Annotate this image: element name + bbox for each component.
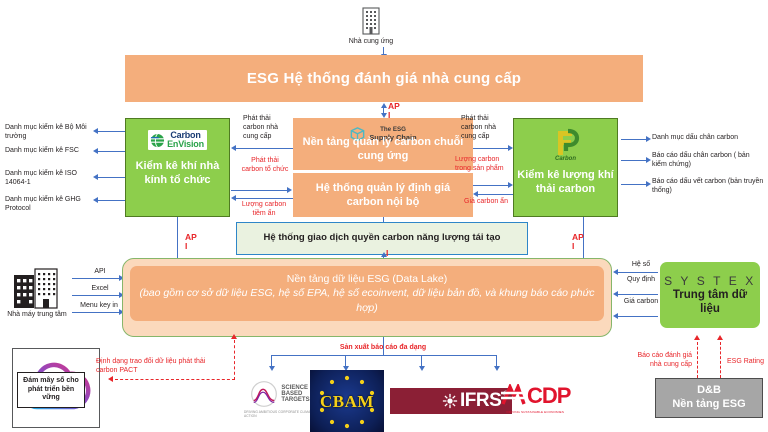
flow-left-upper-label: Phát thải carbon nhà cung cấp [243,115,291,141]
systex-input-1: Quy định [625,276,657,285]
systex-subtitle: Trung tâm dữ liệu [666,289,754,317]
left-arrow-head-1 [93,148,98,154]
supply-chain-carbon-platform-box[interactable]: The ESG Supply Chain Nền tảng quản lý ca… [293,118,473,170]
reports-head-0 [269,366,275,371]
systex-head-2 [613,313,618,319]
org-ghg-inventory-title: Kiểm kê khí nhà kính tổ chức [129,160,227,188]
diagram-canvas: Nhà cung ứng ESG Hệ thống đánh giá nhà c… [0,0,768,432]
cloud-label-box: Đám mây số cho phát triển bền vững [17,372,85,408]
ifrs-block [390,388,438,414]
renewable-carbon-trading-box[interactable]: Hệ thống giao dịch quyền carbon năng lượ… [236,222,528,255]
left-arrow-head-2 [93,174,98,180]
right-arrow-head-0 [646,136,651,142]
sbt-line3: TARGETS [281,397,309,403]
right-arrow-line-2 [621,184,647,185]
flow-left-mid-label: Phát thải carbon tổ chức [240,157,290,175]
factory-line-0 [72,278,122,279]
cdp-text: CDP [527,383,570,409]
data-lake-line2: (bao gồm cơ sở dữ liệu ESG, hệ số EPA, h… [137,286,597,314]
systex-dashed-right-label: ESG Rating [727,358,768,367]
dnb-dashed-head-left [694,335,700,340]
reports-head-2 [419,366,425,371]
pact-dashed-label: Định dạng trao đổi dữ liệu phát thải car… [96,358,221,376]
right-output-2: Báo cáo dấu vết carbon (bản truyền thống… [652,178,764,196]
reports-stem [383,337,384,355]
left-output-1: Danh mục kiểm kê FSC [5,147,97,156]
esg-data-lake-box[interactable]: Nền tảng dữ liệu ESG (Data Lake) (bao gồ… [130,266,604,321]
flow-right-lower-head [473,191,478,197]
dnb-line2: Nền tảng ESG [672,398,745,412]
carbon-envision-logo: Carbon EnVision [148,130,207,150]
science-based-targets-logo: SCIENCE BASED TARGETS DRIVING AMBITIOUS … [244,380,316,418]
esg-supplier-evaluation-banner[interactable]: ESG Hệ thống đánh giá nhà cung cấp [125,55,643,102]
flow-left-lower-line [236,198,293,199]
pact-dashed-line-h [115,379,235,380]
left-output-3: Danh mục kiểm kê GHG Protocol [5,196,97,214]
left-output-0: Danh mục kiểm kê Bộ Môi trường [5,124,97,142]
internal-carbon-pricing-box[interactable]: Hệ thống quản lý định giá carbon nội bộ [293,173,473,217]
right-arrow-line-1 [621,160,647,161]
right-arrow-head-1 [646,157,651,163]
eu-stars-icon [310,370,384,432]
flow-left-mid-head [287,187,292,193]
pact-dashed-head-up [231,334,237,339]
sbt-line1: SCIENCE [281,385,309,391]
factory-line-1 [72,295,122,296]
flow-right-lower-line [478,194,513,195]
factory-input-1: Excel [75,285,125,294]
ifrs-mark-icon [442,393,458,409]
left-arrow-line-3 [98,200,125,201]
systex-line-1 [618,294,658,295]
flow-right-lower-label: Giá carbon ẩn [464,198,514,207]
flow-right-upper-label: Phát thải carbon nhà cung cấp [461,115,509,141]
cdp-logo: CDP DRIVING SUSTAINABLE ECONOMIES [500,383,570,414]
api-label-left-2: I [185,241,187,252]
supplier-label: Nhà cung ứng [331,38,411,47]
systex-head-0 [613,269,618,275]
flow-right-upper-line [473,148,511,149]
flow-left-upper-head [231,145,236,151]
pact-dashed-head [108,376,113,382]
systex-line-2 [618,316,658,317]
org-box-to-lake-line [177,217,178,264]
carbon-footprint-title: Kiểm kê lượng khí thải carbon [517,169,615,197]
left-output-2: Danh mục kiểm kê ISO 14064-1 [5,170,97,188]
supply-chain-title: Nền tảng quản lý carbon chuỗi cung ứng [297,135,469,164]
flow-right-mid-head [508,182,513,188]
dnb-esg-platform-box[interactable]: D&B Nền tảng ESG [655,378,763,418]
internal-pricing-title: Hệ thống quản lý định giá carbon nội bộ [297,181,469,210]
factory-input-0: API [75,268,125,277]
flow-right-mid-line [473,185,511,186]
systex-line-0 [618,272,658,273]
ce-logo-secondary: EnVision [167,140,204,149]
systex-head-1 [613,291,618,297]
dnb-dashed-head-right [717,335,723,340]
cbam-logo: CBAM [310,370,384,432]
ifrs-logo: IFRS ® [390,388,512,414]
right-output-1: Báo cáo dấu chân carbon ( bản kiểm chứng… [652,152,764,170]
fp-carbon-logo: Carbon [548,128,584,162]
org-ghg-inventory-box[interactable]: Carbon EnVision Kiểm kê khí nhà kính tổ … [125,118,230,217]
globe-icon [150,133,165,148]
fp-logo-sub: Carbon [555,156,576,162]
right-arrow-line-0 [621,139,647,140]
sbt-mark-icon [250,380,278,408]
fp-monogram-icon [548,128,584,158]
flow-right-mid-label: Lượng carbon trong sản phẩm [455,156,509,174]
right-arrow-head-2 [646,181,651,187]
left-arrow-line-1 [98,151,125,152]
flow-left-mid-line [231,190,288,191]
cloud-label: Đám mây số cho phát triển bền vững [20,377,82,403]
sbt-fine: DRIVING AMBITIOUS CORPORATE CLIMATE ACTI… [244,410,316,418]
left-arrow-line-2 [98,177,125,178]
factory-buildings-icon [12,267,60,314]
systex-dashed-left-label: Báo cáo đánh giá nhà cung cấp [630,352,692,370]
systex-brand: S Y S T E X [664,274,756,288]
right-output-0: Danh mục dấu chân carbon [652,134,764,143]
factory-line-2 [72,312,122,313]
data-lake-line1: Nền tảng dữ liệu ESG (Data Lake) [137,272,597,286]
dnb-dashed-line-left [697,342,698,378]
systex-input-0: Hệ số [625,261,657,270]
flow-left-lower-label: Lượng carbon tiềm ẩn [236,201,292,219]
ifrs-text: IFRS [460,390,501,412]
flow-right-upper-head [508,145,513,151]
pact-dashed-line-v [234,340,235,380]
supplier-building-icon [358,6,384,41]
left-arrow-head-0 [93,128,98,134]
factory-label: Nhà máy trung tâm [6,311,68,320]
banner-title: ESG Hệ thống đánh giá nhà cung cấp [247,70,521,87]
dnb-line1: D&B [697,384,721,398]
cdp-mark-icon [500,384,526,408]
left-arrow-head-3 [93,197,98,203]
reports-head-3 [494,366,500,371]
renewable-trading-title: Hệ thống giao dịch quyền carbon năng lượ… [244,232,520,245]
cdp-fine: DRIVING SUSTAINABLE ECONOMIES [506,410,564,414]
reports-bus [271,355,496,356]
dnb-dashed-line-right [720,342,721,378]
flow-left-lower-head [231,195,236,201]
left-arrow-line-0 [98,131,125,132]
systex-data-center-box[interactable]: S Y S T E X Trung tâm dữ liệu [660,262,760,328]
systex-input-2: Giá carbon [622,298,660,307]
carbon-footprint-inventory-box[interactable]: Carbon Kiểm kê lượng khí thải carbon [513,118,618,217]
flow-left-upper-line [236,148,293,149]
api-label-right-2: I [572,241,574,252]
